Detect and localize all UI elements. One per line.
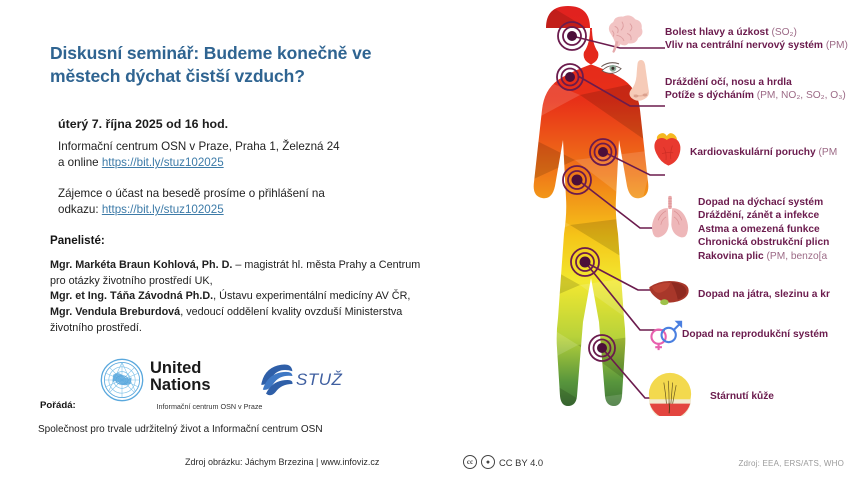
label-lungs-line1: Dopad na dýchací systém xyxy=(698,196,829,209)
label-text: Dopad na játra, slezinu a kr xyxy=(698,289,830,300)
label-subtext: (PM, benzo[a xyxy=(764,251,827,262)
event-location-address: Informační centrum OSN v Praze, Praha 1,… xyxy=(58,140,340,153)
lungs-icon xyxy=(646,194,694,238)
label-eye-nose-line1: Dráždění očí, nosu a hrdla xyxy=(665,76,846,89)
label-text: Rakovina plic xyxy=(698,251,764,262)
label-reproductive-line1: Dopad na reprodukční systém xyxy=(682,328,828,341)
label-lungs-line5: Rakovina plic (PM, benzo[a xyxy=(698,250,829,263)
panelist-name: Mgr. Markéta Braun Kohlová, Ph. D. xyxy=(50,259,232,271)
label-text: Vliv na centrální nervový systém xyxy=(665,40,823,51)
label-skin: Stárnutí kůže xyxy=(710,390,774,403)
page-title: Diskusní seminář: Budeme konečně ve měst… xyxy=(50,42,430,89)
label-subtext: (SO₂) xyxy=(769,27,797,38)
label-subtext: (PM, NO₂, SO₂, O₃) xyxy=(754,90,846,101)
panelist-affiliation: , Ústavu experimentální medicíny AV ČR, xyxy=(213,290,410,302)
label-liver: Dopad na játra, slezinu a kr xyxy=(698,288,830,301)
panelist-name: Mgr. et Ing. Táňa Závodná Ph.D. xyxy=(50,290,213,302)
label-eye-nose-line2: Potíže s dýcháním (PM, NO₂, SO₂, O₃) xyxy=(665,89,846,102)
label-lungs-line3: Astma a omezená funkce xyxy=(698,223,829,236)
event-date: úterý 7. října 2025 od 16 hod. xyxy=(58,117,428,131)
label-eye-nose: Dráždění očí, nosu a hrdla Potíže s dých… xyxy=(665,76,846,103)
label-text: Dráždění, zánět a infekce xyxy=(698,210,819,221)
cc-license-text: CC BY 4.0 xyxy=(499,457,543,468)
label-text: Dráždění očí, nosu a hrdla xyxy=(665,77,792,88)
label-lungs: Dopad na dýchací systém Dráždění, zánět … xyxy=(698,196,829,263)
signup-block: Zájemce o účast na besedě prosíme o přih… xyxy=(58,186,438,219)
label-text: Astma a omezená funkce xyxy=(698,224,820,235)
label-brain: Bolest hlavy a úzkost (SO₂) Vliv na cent… xyxy=(665,26,848,53)
signup-link[interactable]: https://bit.ly/stuz102025 xyxy=(102,203,224,216)
left-content-panel: Diskusní seminář: Budeme konečně ve měst… xyxy=(0,0,460,479)
label-text: Potíže s dýcháním xyxy=(665,90,754,101)
slide-root: Diskusní seminář: Budeme konečně ve měst… xyxy=(0,0,850,479)
cc-by-person-icon: ● xyxy=(481,455,495,469)
label-liver-line1: Dopad na játra, slezinu a kr xyxy=(698,288,830,301)
panelists-list: Mgr. Markéta Braun Kohlová, Ph. D. – mag… xyxy=(50,258,435,336)
panelists-heading: Panelisté: xyxy=(50,234,105,247)
united-nations-logo-icon xyxy=(100,358,144,402)
event-online-prefix: a online xyxy=(58,156,102,169)
un-wordmark-line2: Nations xyxy=(150,377,211,394)
logo-row: United Nations Informační centrum OSN v … xyxy=(100,358,350,410)
label-text: Dopad na reprodukční systém xyxy=(682,329,828,340)
label-text: Bolest hlavy a úzkost xyxy=(665,27,769,38)
un-wordmark-line1: United xyxy=(150,360,211,377)
organizer-text: Společnost pro trvale udržitelný život a… xyxy=(38,424,438,435)
label-heart: Kardiovaskulární poruchy (PM xyxy=(690,146,837,159)
label-brain-line1: Bolest hlavy a úzkost (SO₂) xyxy=(665,26,848,39)
label-reproductive: Dopad na reprodukční systém xyxy=(682,328,828,341)
label-heart-line1: Kardiovaskulární poruchy (PM xyxy=(690,146,837,159)
label-subtext: (PM xyxy=(816,147,838,158)
event-location-block: Informační centrum OSN v Praze, Praha 1,… xyxy=(58,139,438,172)
label-text: Kardiovaskulární poruchy xyxy=(690,147,816,158)
image-source-credit: Zdroj obrázku: Jáchym Brzezina | www.inf… xyxy=(185,457,379,467)
cc-license: cc ● CC BY 4.0 xyxy=(463,455,543,469)
event-online-link[interactable]: https://bit.ly/stuz102025 xyxy=(102,156,224,169)
label-lungs-line4: Chronická obstrukční plicn xyxy=(698,236,829,249)
skin-icon xyxy=(648,372,692,416)
brain-icon xyxy=(600,14,646,54)
organizer-label: Pořádá: xyxy=(40,400,76,411)
label-lungs-line2: Dráždění, zánět a infekce xyxy=(698,209,829,222)
signup-text: Zájemce o účast na besedě prosíme o přih… xyxy=(58,187,325,200)
label-text: Stárnutí kůže xyxy=(710,391,774,402)
un-subtitle: Informační centrum OSN v Praze xyxy=(102,402,317,411)
infographic-panel: Bolest hlavy a úzkost (SO₂) Vliv na cent… xyxy=(460,0,850,479)
cc-icon: cc xyxy=(463,455,477,469)
stuz-globe-logo-icon xyxy=(252,360,296,400)
label-brain-line2: Vliv na centrální nervový systém (PM) xyxy=(665,39,848,52)
signup-prefix: odkazu: xyxy=(58,203,102,216)
label-subtext: (PM) xyxy=(823,40,848,51)
stuz-wordmark: STUŽ xyxy=(296,370,342,390)
data-source-credit: Zdroj: EEA, ERS/ATS, WHO xyxy=(738,459,844,468)
liver-icon xyxy=(646,276,692,310)
panelist-name: Mgr. Vendula Breburdová xyxy=(50,306,180,318)
label-text: Chronická obstrukční plicn xyxy=(698,237,829,248)
heart-icon xyxy=(650,128,686,168)
label-text: Dopad na dýchací systém xyxy=(698,197,823,208)
label-skin-line1: Stárnutí kůže xyxy=(710,390,774,403)
nose-icon xyxy=(628,58,658,106)
un-wordmark: United Nations xyxy=(150,360,211,394)
